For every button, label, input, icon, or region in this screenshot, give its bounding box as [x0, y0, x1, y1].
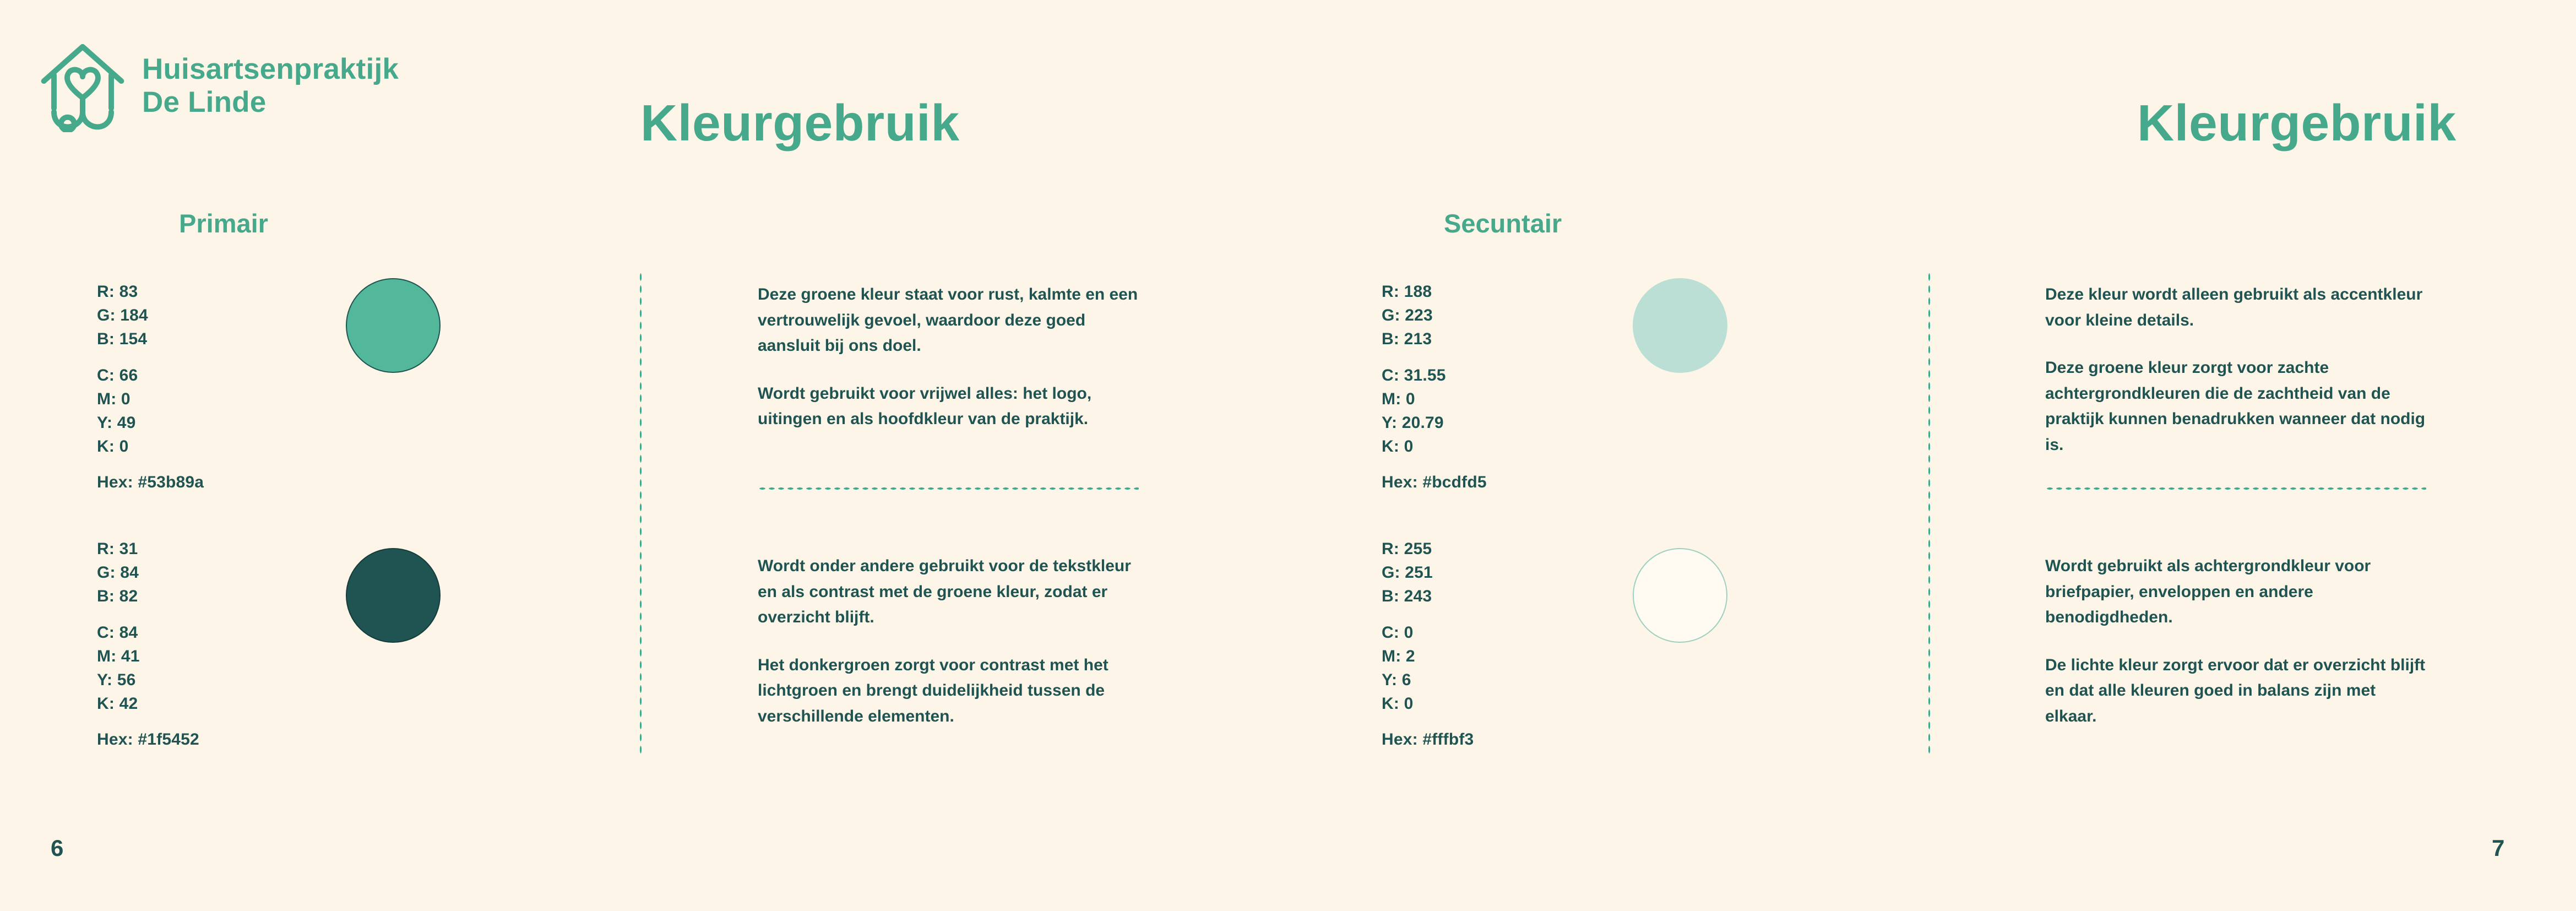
cmyk-y: Y: 56: [97, 668, 199, 692]
rgb-g: G: 223: [1382, 303, 1487, 327]
page-title-right: Kleurgebruik: [2137, 94, 2457, 153]
color-swatch-mint: [1633, 278, 1727, 373]
rgb-b: B: 243: [1382, 584, 1474, 608]
logo-lockup: Huisartsenpraktijk De Linde: [39, 40, 399, 132]
cmyk-m: M: 0: [97, 387, 204, 411]
cmyk-k: K: 0: [1382, 435, 1487, 458]
rgb-g: G: 251: [1382, 561, 1474, 584]
color-swatch-cream: [1633, 548, 1727, 643]
color-swatch-primary-green: [346, 278, 441, 373]
rgb-r: R: 31: [97, 537, 199, 561]
cmyk-c: C: 66: [97, 364, 204, 387]
cmyk-k: K: 0: [97, 435, 204, 458]
horizontal-dotted-separator-left: [758, 487, 1139, 490]
section-subtitle-secuntair: Secuntair: [1444, 208, 1562, 238]
hex-value: Hex: #1f5452: [97, 728, 199, 751]
cmyk-m: M: 41: [97, 644, 199, 668]
rgb-g: G: 184: [97, 303, 204, 327]
paragraph: Wordt gebruikt voor vrijwel alles: het l…: [758, 381, 1143, 432]
logo-line-1: Huisartsenpraktijk: [142, 53, 399, 86]
cmyk-k: K: 0: [1382, 692, 1474, 715]
house-heart-stethoscope-icon: [39, 40, 127, 132]
color-copy-right-2: Wordt gebruikt als achtergrondkleur voor…: [2045, 554, 2431, 729]
page-title-left: Kleurgebruik: [640, 94, 960, 153]
paragraph: Het donkergroen zorgt voor contrast met …: [758, 653, 1143, 730]
paragraph: Deze groene kleur staat voor rust, kalmt…: [758, 282, 1143, 359]
color-spec-left-1: R: 83 G: 184 B: 154 C: 66 M: 0 Y: 49 K: …: [97, 280, 204, 495]
paragraph: Wordt onder andere gebruikt voor de teks…: [758, 554, 1143, 631]
page-number-right: 7: [2492, 835, 2504, 861]
color-swatch-dark-green: [346, 548, 441, 643]
rgb-g: G: 84: [97, 561, 199, 584]
paragraph: Deze kleur wordt alleen gebruikt als acc…: [2045, 282, 2431, 333]
logo-line-2: De Linde: [142, 86, 399, 119]
paragraph: Wordt gebruikt als achtergrondkleur voor…: [2045, 554, 2431, 631]
vertical-dotted-divider-right: [1928, 271, 1931, 753]
cmyk-m: M: 2: [1382, 644, 1474, 668]
horizontal-dotted-separator-right: [2045, 487, 2426, 490]
color-spec-left-2: R: 31 G: 84 B: 82 C: 84 M: 41 Y: 56 K: 4…: [97, 537, 199, 752]
rgb-b: B: 154: [97, 327, 204, 351]
color-copy-left-2: Wordt onder andere gebruikt voor de teks…: [758, 554, 1143, 729]
paragraph: Deze groene kleur zorgt voor zachte acht…: [2045, 355, 2431, 458]
rgb-r: R: 255: [1382, 537, 1474, 561]
logo-wordmark: Huisartsenpraktijk De Linde: [142, 53, 399, 119]
color-copy-left-1: Deze groene kleur staat voor rust, kalmt…: [758, 282, 1143, 432]
cmyk-y: Y: 6: [1382, 668, 1474, 692]
cmyk-c: C: 84: [97, 621, 199, 644]
rgb-r: R: 188: [1382, 280, 1487, 303]
cmyk-m: M: 0: [1382, 387, 1487, 411]
hex-value: Hex: #fffbf3: [1382, 728, 1474, 751]
rgb-r: R: 83: [97, 280, 204, 303]
cmyk-y: Y: 49: [97, 411, 204, 435]
paragraph: De lichte kleur zorgt ervoor dat er over…: [2045, 653, 2431, 730]
color-spec-right-2: R: 255 G: 251 B: 243 C: 0 M: 2 Y: 6 K: 0…: [1382, 537, 1474, 752]
vertical-dotted-divider-left: [639, 271, 642, 753]
section-subtitle-primair: Primair: [179, 208, 268, 238]
cmyk-c: C: 0: [1382, 621, 1474, 644]
rgb-b: B: 213: [1382, 327, 1487, 351]
brand-guideline-spread: Huisartsenpraktijk De Linde Kleurgebruik…: [0, 0, 2576, 911]
hex-value: Hex: #53b89a: [97, 470, 204, 494]
cmyk-k: K: 42: [97, 692, 199, 715]
page-number-left: 6: [51, 835, 63, 861]
color-copy-right-1: Deze kleur wordt alleen gebruikt als acc…: [2045, 282, 2431, 458]
hex-value: Hex: #bcdfd5: [1382, 470, 1487, 494]
cmyk-y: Y: 20.79: [1382, 411, 1487, 435]
color-spec-right-1: R: 188 G: 223 B: 213 C: 31.55 M: 0 Y: 20…: [1382, 280, 1487, 495]
cmyk-c: C: 31.55: [1382, 364, 1487, 387]
page-right: Kleurgebruik Secuntair R: 188 G: 223 B: …: [1288, 0, 2576, 911]
rgb-b: B: 82: [97, 584, 199, 608]
page-left: Huisartsenpraktijk De Linde Kleurgebruik…: [0, 0, 1288, 911]
